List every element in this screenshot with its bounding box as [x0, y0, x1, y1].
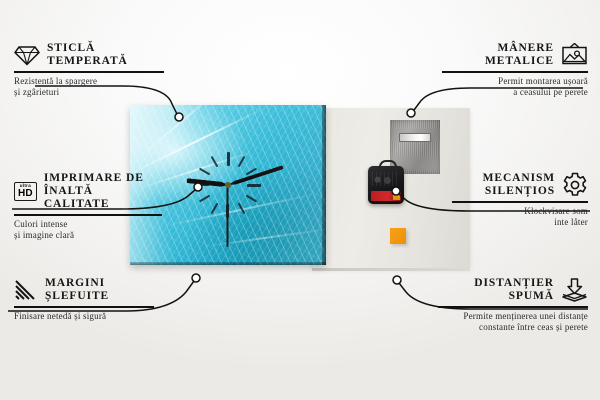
hanger-keyhole-slot [399, 133, 431, 142]
callout-subtitle-line-2: inte låter [452, 217, 588, 229]
callout-metal-hangers: MÂNERE METALICE Permit montarea ușoară a… [442, 42, 588, 99]
callout-rule [14, 214, 162, 216]
callout-title-line-2: ÎNALTĂ CALITATE [44, 185, 162, 211]
picture-hanger-icon [561, 43, 588, 67]
callout-subtitle-line-1: Rezistentă la spargere [14, 76, 164, 88]
clock-back-panel [312, 108, 470, 268]
battery [371, 191, 401, 201]
foam-spacer-icon [561, 278, 588, 303]
ultra-hd-badge-icon: ultra HD [14, 182, 37, 201]
badge-hd-label: HD [18, 189, 33, 199]
callout-title-line-2: ȘLEFUITE [45, 290, 109, 303]
callout-subtitle-line-2: și imagine clară [14, 230, 162, 242]
callout-silent-mechanism: MECANISM SILENȚIOS Klockvisare som inte … [452, 172, 588, 229]
callout-subtitle-line-2: și zgârieturi [14, 87, 164, 99]
callout-subtitle-line-2: a ceasului pe perete [442, 87, 588, 99]
mechanism-hook [379, 160, 397, 172]
callout-title-line-1: IMPRIMARE DE [44, 172, 162, 185]
foam-spacer [390, 228, 406, 244]
callout-title-line-1: DISTANȚIER [474, 277, 554, 290]
infographic-stage: STICLĂ TEMPERATĂ Rezistentă la spargere … [0, 0, 600, 400]
callout-rule [442, 71, 588, 73]
callout-header: MECANISM SILENȚIOS [452, 172, 588, 198]
callout-rule [14, 71, 164, 73]
callout-subtitle-line-1: Permit montarea ușoară [442, 76, 588, 88]
callout-title-line-1: MÂNERE [485, 42, 554, 55]
callout-rule [14, 306, 154, 308]
callout-title-line-2: SILENȚIOS [483, 185, 555, 198]
callout-title-line-2: SPUMĂ [474, 290, 554, 303]
callout-header: ultra HD IMPRIMARE DE ÎNALTĂ CALITATE [14, 172, 162, 211]
clock-bottom-edge [130, 262, 326, 265]
callout-rule [438, 306, 588, 308]
callout-subtitle-line-2: constante între ceas și perete [438, 322, 588, 334]
gear-icon [562, 172, 588, 198]
callout-high-quality-print: ultra HD IMPRIMARE DE ÎNALTĂ CALITATE Cu… [14, 172, 162, 242]
callout-subtitle-line-1: Permite menținerea unei distanțe [438, 311, 588, 323]
clock-side-edge [322, 105, 326, 265]
clock-mechanism [368, 166, 404, 204]
callout-tempered-glass: STICLĂ TEMPERATĂ Rezistentă la spargere … [14, 42, 164, 99]
callout-header: STICLĂ TEMPERATĂ [14, 42, 164, 68]
polished-edge-icon [14, 279, 38, 301]
callout-title-line-2: METALICE [485, 55, 554, 68]
callout-title-line-1: MECANISM [483, 172, 555, 185]
callout-subtitle-line-1: Culori intense [14, 219, 162, 231]
callout-title-line-1: STICLĂ [47, 42, 128, 55]
callout-rule [452, 201, 588, 203]
callout-header: MARGINI ȘLEFUITE [14, 277, 154, 303]
diamond-icon [14, 45, 40, 66]
callout-title-line-2: TEMPERATĂ [47, 55, 128, 68]
callout-title-line-1: MARGINI [45, 277, 109, 290]
callout-header: DISTANȚIER SPUMĂ [438, 277, 588, 303]
callout-foam-spacer: DISTANȚIER SPUMĂ Permite menținerea unei… [438, 277, 588, 334]
mechanism-detail [372, 172, 400, 186]
callout-subtitle-line-1: Klockvisare som [452, 206, 588, 218]
callout-header: MÂNERE METALICE [442, 42, 588, 68]
callout-polished-edges: MARGINI ȘLEFUITE Finisare netedă și sigu… [14, 277, 154, 322]
product-image [130, 105, 470, 275]
callout-subtitle-line-1: Finisare netedă și sigură [14, 311, 154, 323]
